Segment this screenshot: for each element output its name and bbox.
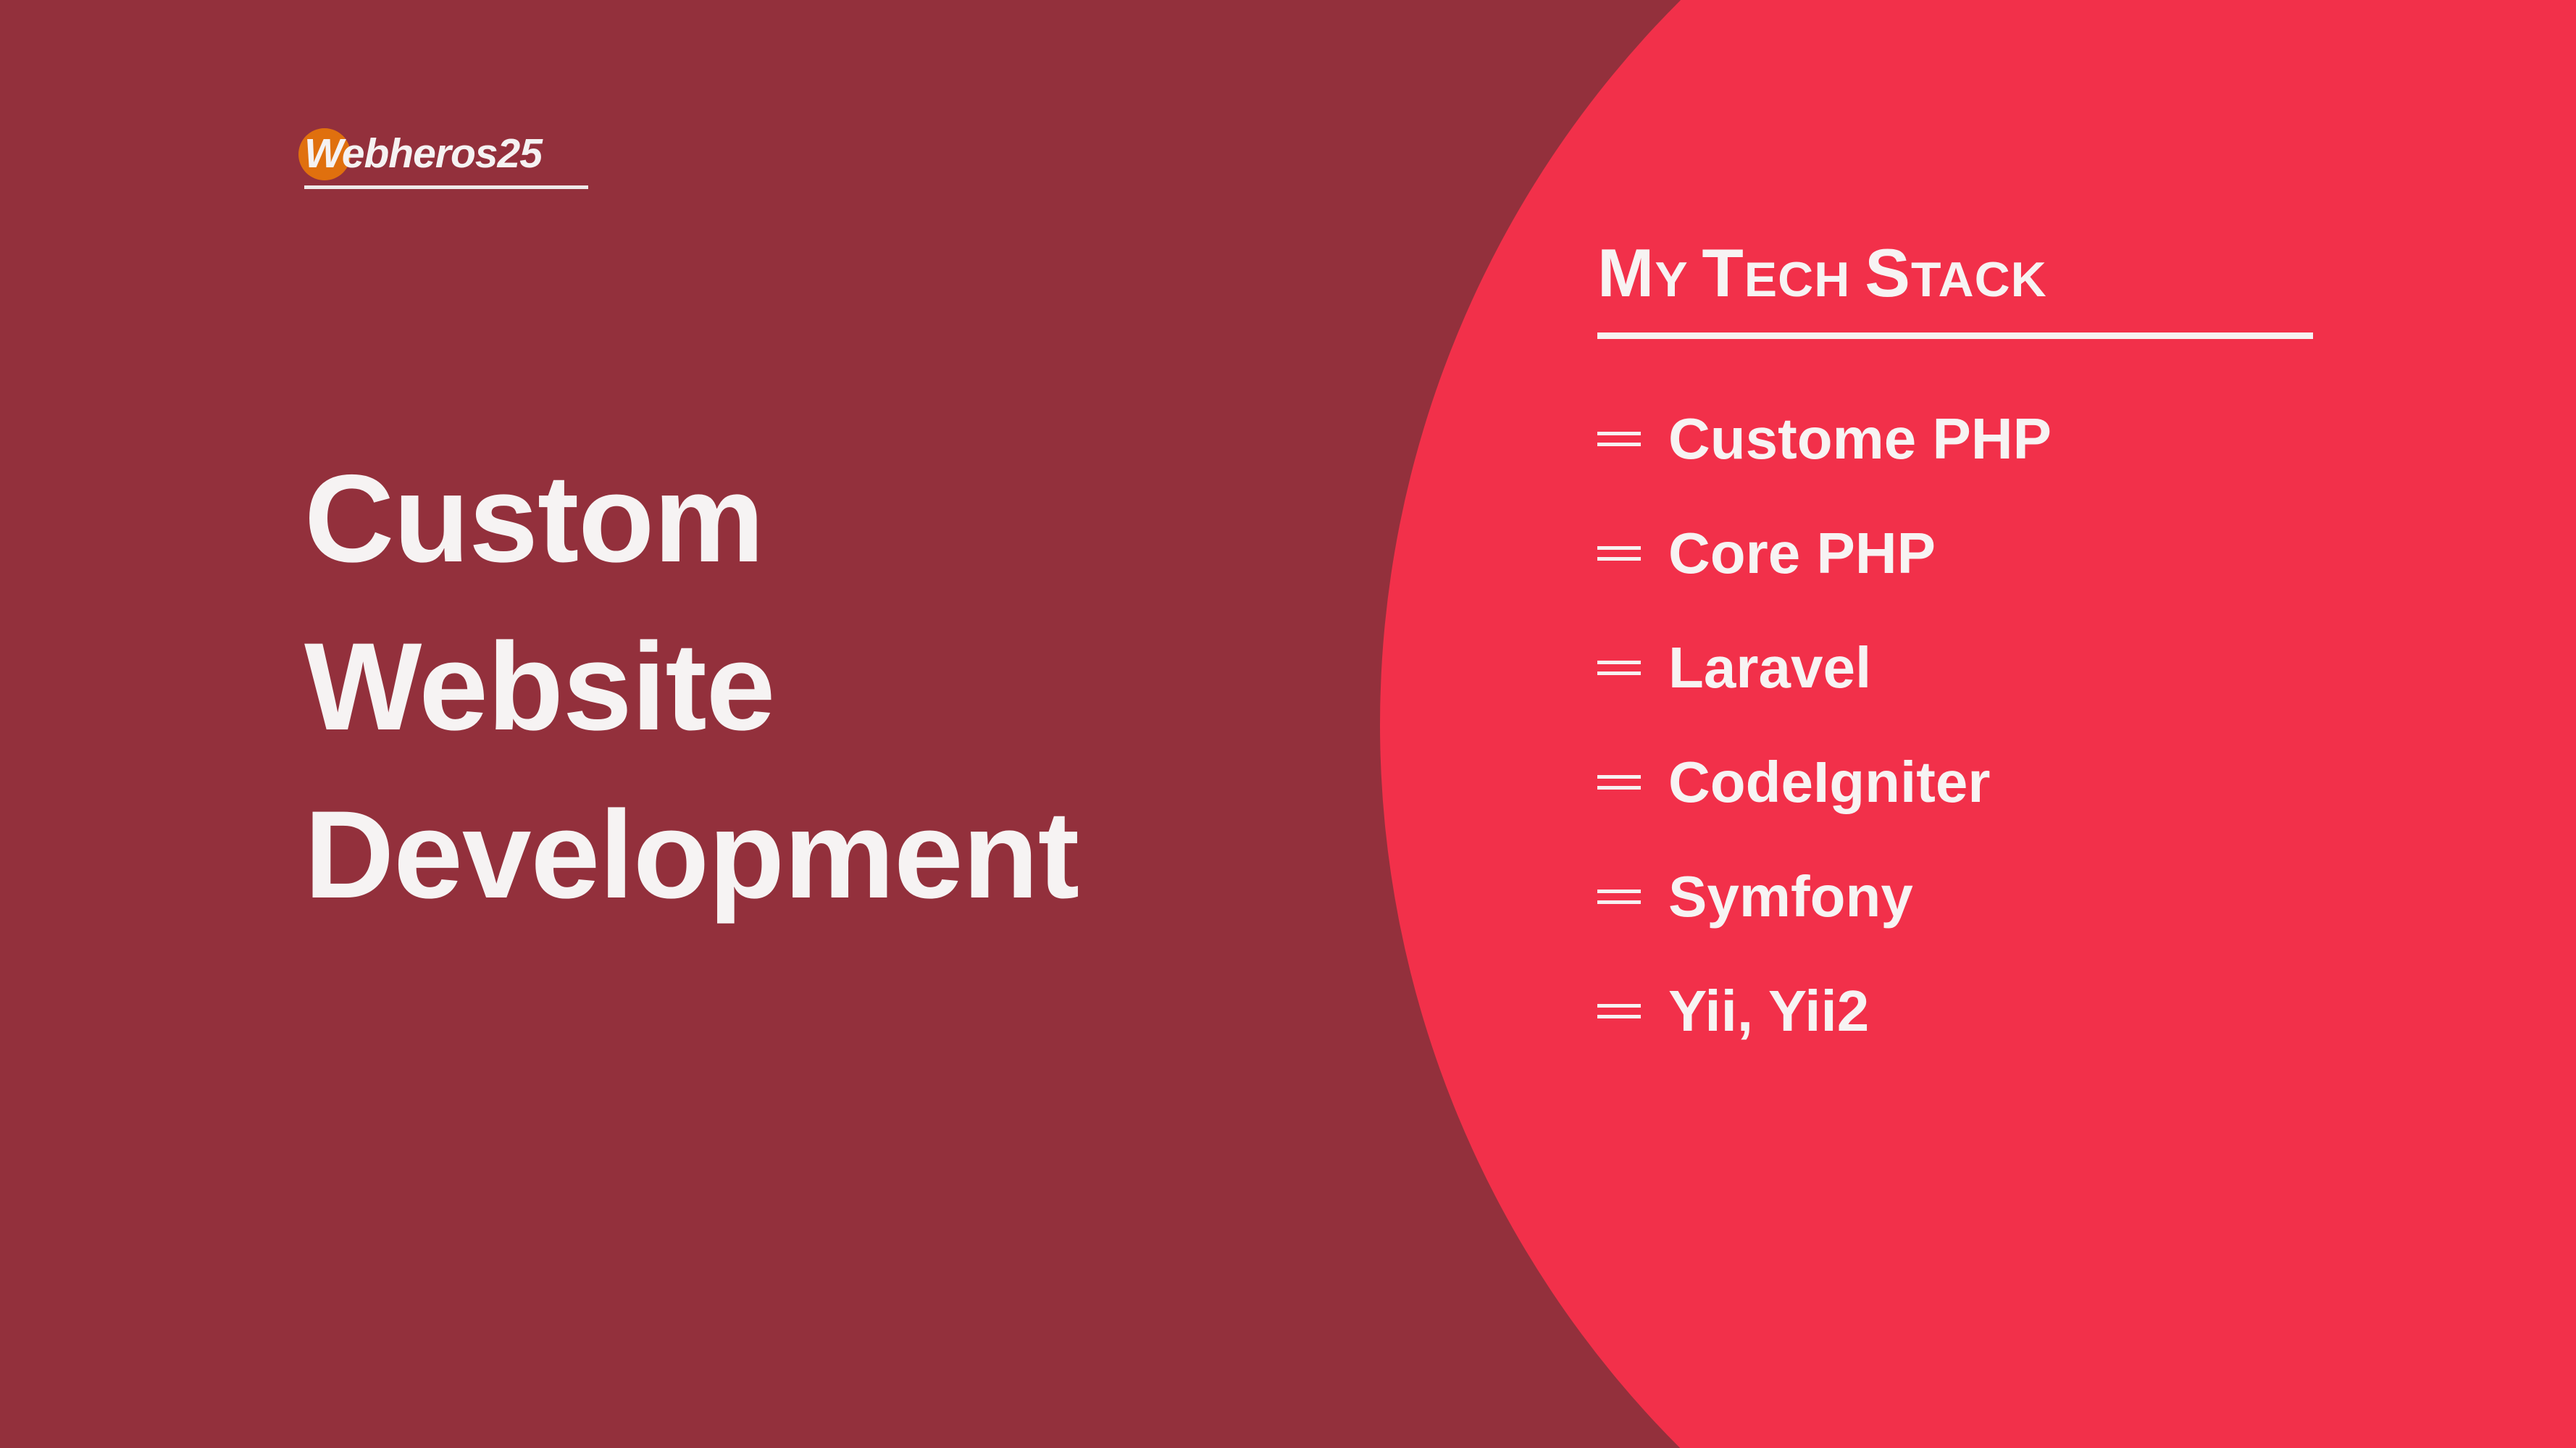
heading-letters-y: y <box>1655 252 1687 307</box>
tech-stack-item-label: CodeIgniter <box>1668 750 1990 815</box>
tech-stack-item-label: Custome PHP <box>1668 406 2052 472</box>
equals-bullet-icon <box>1597 430 1641 448</box>
list-item: Core PHP <box>1597 521 2452 586</box>
heading-letter-t: T <box>1702 235 1744 311</box>
equals-bullet-icon <box>1597 659 1641 677</box>
brand-logo[interactable]: Webheros25 <box>298 125 588 189</box>
tech-stack-item-label: Yii, Yii2 <box>1668 979 1869 1044</box>
tech-stack-item-label: Laravel <box>1668 635 1871 700</box>
headline-line-2: Website <box>304 603 1318 771</box>
brand-logo-text: Webheros25 <box>304 125 542 183</box>
heading-letters-tack: tack <box>1911 252 2047 307</box>
tech-stack-heading: My Tech Stack <box>1597 239 2452 307</box>
tech-stack-list: Custome PHP Core PHP Laravel CodeIgniter <box>1597 406 2452 1044</box>
heading-space-2 <box>1850 252 1865 307</box>
tech-stack-panel: My Tech Stack Custome PHP Core PHP Lara <box>1597 239 2452 1093</box>
headline-line-3: Development <box>304 771 1318 939</box>
list-item: Custome PHP <box>1597 406 2452 472</box>
promo-banner: Webheros25 Custom Website Development My… <box>0 0 2576 1448</box>
list-item: CodeIgniter <box>1597 750 2452 815</box>
equals-bullet-icon <box>1597 1003 1641 1020</box>
brand-logo-row: Webheros25 <box>298 125 542 183</box>
heading-letter-s: S <box>1865 235 1911 311</box>
brand-logo-underline <box>304 185 588 189</box>
tech-stack-item-label: Symfony <box>1668 864 1913 929</box>
list-item: Laravel <box>1597 635 2452 700</box>
heading-letters-ech: ech <box>1744 252 1851 307</box>
heading-space-1 <box>1687 252 1702 307</box>
list-item: Symfony <box>1597 864 2452 929</box>
headline-line-1: Custom <box>304 435 1318 603</box>
equals-bullet-icon <box>1597 545 1641 562</box>
page-title: Custom Website Development <box>304 435 1318 939</box>
list-item: Yii, Yii2 <box>1597 979 2452 1044</box>
tech-stack-item-label: Core PHP <box>1668 521 1936 586</box>
equals-bullet-icon <box>1597 774 1641 791</box>
heading-letter-m: M <box>1597 235 1655 311</box>
equals-bullet-icon <box>1597 888 1641 905</box>
tech-stack-heading-underline <box>1597 332 2313 339</box>
